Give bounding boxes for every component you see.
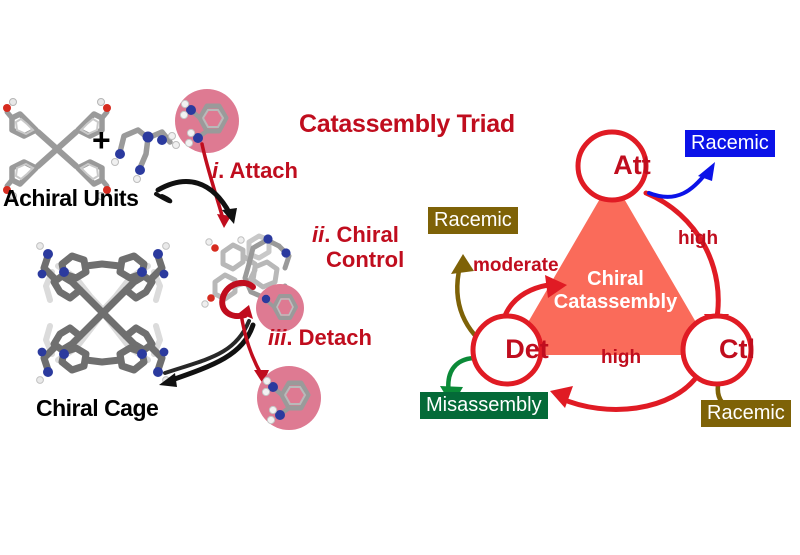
step-iii-numeral: iii <box>268 325 286 350</box>
plus-sign: + <box>92 122 110 159</box>
step-ii-text: . Chiral <box>324 222 399 247</box>
step-ii-chiral-control-label: ii. Chiral Control <box>312 222 404 273</box>
step-ii-numeral: ii <box>312 222 324 247</box>
graphical-abstract-figure: + <box>0 0 800 555</box>
edge-ctl-to-det <box>560 375 698 409</box>
achiral-units-label: Achiral Units <box>3 185 138 212</box>
outcome-box-misassembly: Misassembly <box>420 392 548 419</box>
node-det-label: Det <box>488 334 566 365</box>
edge-label-high-att-ctl: high <box>678 228 718 250</box>
center-label-line2: Catassembly <box>528 291 703 314</box>
branch-det-racemic-arrowhead <box>451 254 474 274</box>
chiral-cage-label: Chiral Cage <box>36 395 158 422</box>
edge-ctl-to-det-arrowhead <box>550 386 573 408</box>
node-att-label: Att <box>593 150 671 181</box>
outcome-box-ctl-racemic: Racemic <box>701 400 791 427</box>
step-ii-text-line2: Control <box>326 247 404 272</box>
outcome-box-att-racemic: Racemic <box>685 130 775 157</box>
edge-label-high-ctl-det: high <box>601 347 641 369</box>
guest-molecule-circle-detach <box>256 365 322 431</box>
node-ctl-label: Ctl <box>698 334 776 365</box>
edge-label-moderate: moderate <box>473 255 559 277</box>
outcome-box-det-racemic: Racemic <box>428 207 518 234</box>
step-iii-detach-label: iii. Detach <box>268 325 372 351</box>
step-iii-text: . Detach <box>286 325 372 350</box>
